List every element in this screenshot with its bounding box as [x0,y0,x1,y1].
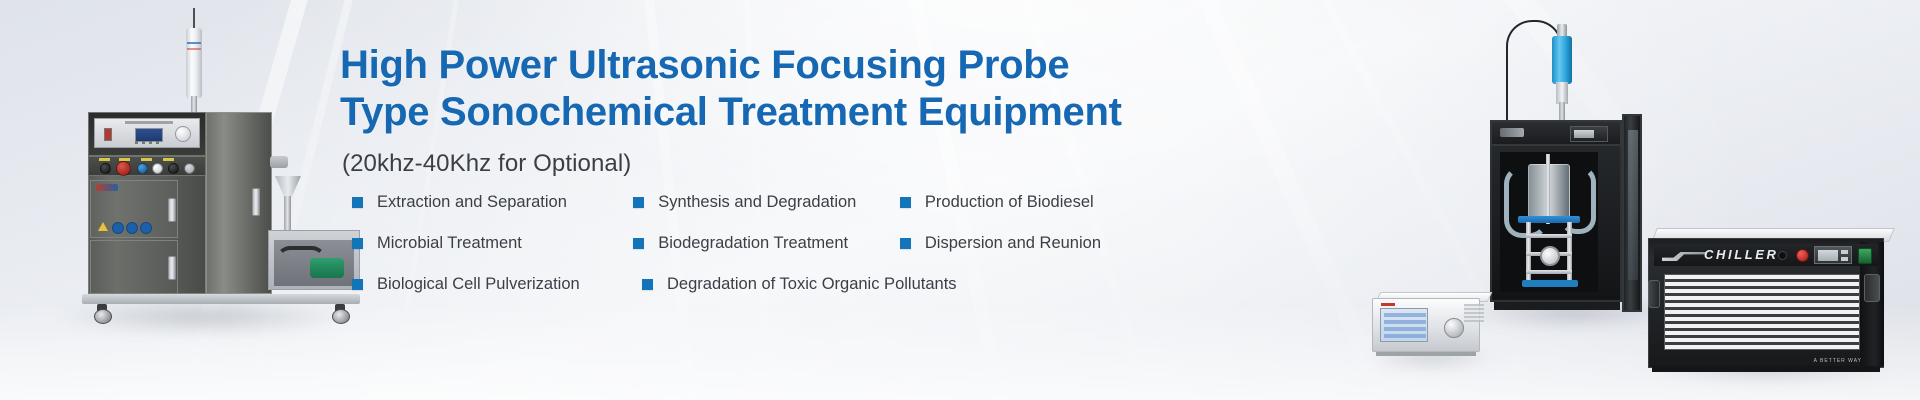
feature-row: Extraction and Separation Synthesis and … [352,182,1152,223]
bullet-square-icon [633,197,644,208]
chiller-indicator-black [1778,251,1787,260]
sonochemical-reactor-cabinet [1478,14,1658,314]
left-machine-valve [270,156,288,168]
reactor-display [1570,126,1608,142]
left-probe-assembly [186,8,202,116]
feature-item: Degradation of Toxic Organic Pollutants [642,275,917,294]
feature-label: Production of Biodiesel [925,193,1094,212]
feature-item: Extraction and Separation [352,193,633,212]
generator-knob [1444,318,1464,338]
generator-touchscreen [1380,308,1428,342]
safety-icon-1 [112,222,124,234]
feature-list: Extraction and Separation Synthesis and … [352,182,1152,305]
reactor-cabinet-feet [1494,302,1620,310]
warning-triangle-icon [98,222,108,231]
caster-wheel [332,304,348,322]
left-machine-pump-motor [310,258,344,278]
generator-brand-mark [1381,303,1395,306]
left-machine-right-cabinet [206,112,272,294]
chiller-label: CHILLER [1704,247,1779,262]
caster-wheel [94,304,110,322]
reactor-brand-logo [1500,128,1524,137]
feature-label: Biological Cell Pulverization [377,275,580,294]
chiller-temperature-meter [1814,246,1852,264]
bullet-square-icon [900,238,911,249]
transducer-booster [1556,82,1568,104]
probe-rod [1546,154,1550,224]
safety-icon-2 [126,222,138,234]
feature-label: Dispersion and Reunion [925,234,1101,253]
safety-icon-3 [140,222,152,234]
ultrasonic-generator-controller [1372,290,1496,360]
chiller-radiator-grill [1664,274,1860,350]
feature-label: Synthesis and Degradation [658,193,856,212]
chiller-unit: CHILLER A BETTER WAY [1648,228,1898,376]
chiller-tagline: A BETTER WAY [1814,358,1862,364]
feature-item: Biodegradation Treatment [633,234,900,253]
feature-label: Microbial Treatment [377,234,522,253]
bullet-square-icon [352,197,363,208]
reactor-cabinet-door [1622,114,1642,312]
bullet-square-icon [900,197,911,208]
feature-item: Microbial Treatment [352,234,633,253]
chiller-side-handle [1864,274,1880,302]
page-title-line2: Type Sonochemical Treatment Equipment [340,89,1160,136]
generator-feet [1376,352,1476,356]
pressure-gauge [1540,246,1560,266]
feature-item: Production of Biodiesel [900,193,1152,212]
bullet-square-icon [352,238,363,249]
bullet-square-icon [633,238,644,249]
left-machine-control-panel [94,118,200,148]
left-machine-base-frame [82,294,360,304]
chiller-left-handle [1648,280,1660,308]
left-machine-pipe [284,196,291,230]
feature-row: Microbial Treatment Biodegradation Treat… [352,223,1152,264]
blue-ultrasonic-transducer [1552,36,1572,84]
page-title-line1: High Power Ultrasonic Focusing Probe [340,42,1160,89]
frequency-subtitle: (20khz-40Khz for Optional) [342,150,1160,178]
left-machine-door-lower [90,240,178,294]
left-machine-handle-lower [168,256,176,280]
reactor-base-plate [1522,280,1578,287]
left-machine-right-handle [252,188,260,216]
feature-item: Dispersion and Reunion [900,234,1152,253]
left-machine-button-bar [88,156,206,176]
bullet-square-icon [352,279,363,290]
left-machine-handle-upper [168,198,176,222]
left-machine-brand-logo [96,184,118,191]
headline-block: High Power Ultrasonic Focusing Probe Typ… [340,42,1160,178]
left-machine-funnel [275,176,301,198]
feature-row: Biological Cell Pulverization Degradatio… [352,264,1152,305]
feature-label: Biodegradation Treatment [658,234,848,253]
feature-label: Extraction and Separation [377,193,567,212]
bullet-square-icon [642,279,653,290]
product-banner: High Power Ultrasonic Focusing Probe Typ… [0,0,1920,400]
chiller-green-switch[interactable] [1858,248,1872,264]
chiller-power-button[interactable] [1796,249,1809,262]
generator-vent [1464,304,1484,322]
feature-item: Synthesis and Degradation [633,193,900,212]
feature-item: Biological Cell Pulverization [352,275,642,294]
left-ultrasonic-machine [70,8,330,320]
feature-label: Degradation of Toxic Organic Pollutants [667,275,957,294]
chiller-feet [1652,366,1880,372]
